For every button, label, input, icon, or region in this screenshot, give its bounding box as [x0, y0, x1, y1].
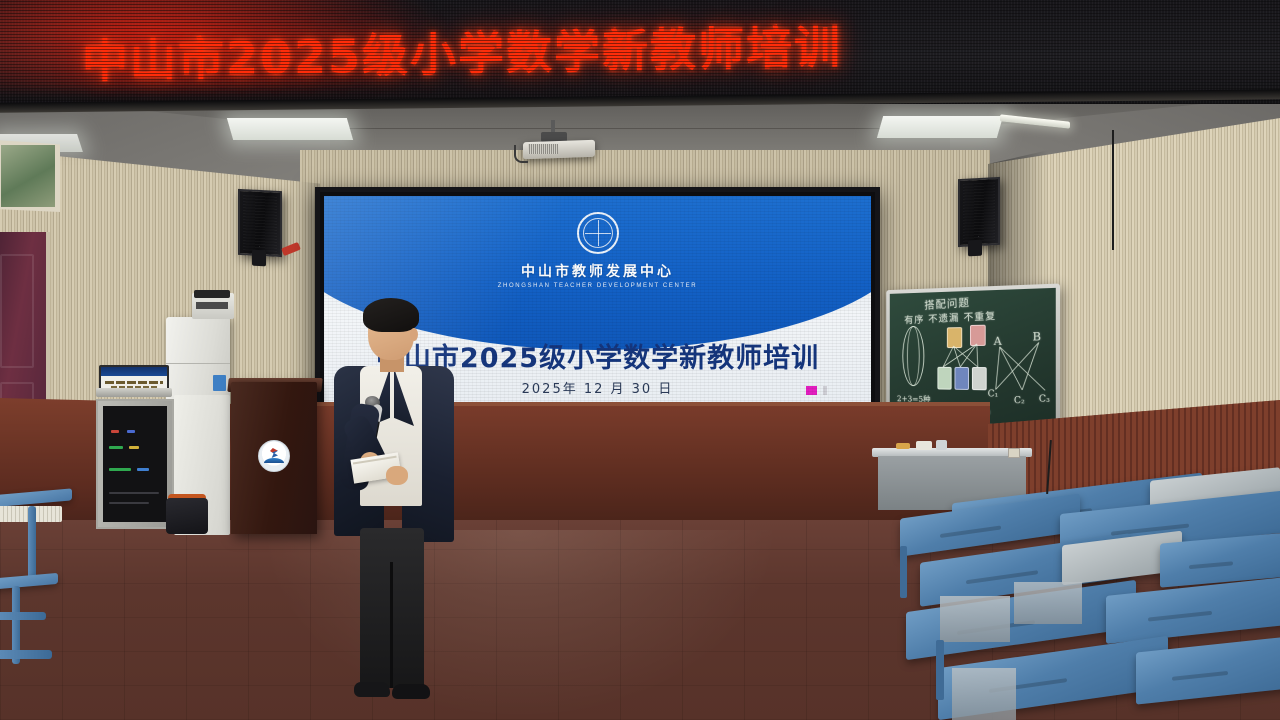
blackboard-node-c2: C₂	[1014, 396, 1025, 407]
trouser-seam	[390, 562, 393, 688]
podium	[231, 382, 317, 534]
equipment-bag	[166, 498, 208, 534]
desk-side-panel	[940, 596, 1010, 642]
left-speaker-mount	[252, 250, 266, 267]
wall-outlet[interactable]	[1008, 448, 1020, 458]
ceiling-light-panel	[227, 118, 353, 140]
grey-artifact	[823, 386, 827, 395]
ceiling-seam	[330, 128, 960, 129]
table-item-chalk	[896, 443, 910, 449]
rack-panel-line	[109, 502, 149, 504]
blackboard-node-b: B	[1033, 330, 1041, 344]
left-desk-crossbar	[0, 612, 46, 620]
left-stool-foot	[0, 650, 52, 659]
desk-leg	[900, 546, 907, 598]
shoe-left	[354, 682, 390, 697]
av-equipment-rack	[96, 399, 174, 529]
left-window	[0, 140, 60, 212]
blackboard-node-a: A	[994, 335, 1002, 348]
left-wall-speaker: .	[238, 189, 282, 257]
desk-side-panel	[1014, 582, 1082, 624]
slide-logo: 中山市教师发展中心 ZHONGSHAN TEACHER DEVELOPMENT …	[324, 212, 871, 289]
shoe-right	[392, 684, 430, 699]
printer-lid	[194, 290, 230, 298]
ceiling-light-panel	[877, 116, 1003, 138]
lecture-room-photo: 中山市2025级小学数学新教师培训 . . 中山市教师发展中心	[0, 0, 1280, 720]
laptop-screen-content	[101, 367, 167, 389]
blackboard-node-c1: C₁	[988, 389, 999, 399]
laptop-text-line	[105, 381, 163, 384]
rack-panel-line	[109, 492, 159, 494]
ac-seam	[166, 363, 230, 364]
printer-paper-slot	[196, 302, 228, 309]
rack-status-led	[109, 446, 123, 449]
wall-cable	[1112, 130, 1114, 250]
emblem-figure	[270, 448, 278, 458]
rack-status-led	[109, 468, 131, 471]
rack-status-led	[129, 446, 139, 449]
logo-english-name: ZHONGSHAN TEACHER DEVELOPMENT CENTER	[324, 283, 871, 289]
school-emblem-icon	[258, 440, 290, 472]
right-speaker-mount	[968, 240, 982, 257]
blackboard-node-c3: C₃	[1039, 394, 1050, 405]
hair	[363, 298, 419, 332]
right-wall-speaker: .	[958, 177, 1000, 247]
desk-leg	[936, 640, 944, 700]
ac-energy-label	[213, 375, 226, 391]
desk-side-panel	[952, 668, 1016, 720]
table-item-eraser	[916, 441, 932, 450]
table-item-cup	[936, 440, 947, 450]
projector-cable	[514, 145, 528, 163]
rack-status-led	[137, 468, 149, 471]
presenter	[330, 296, 460, 720]
rack-status-led	[111, 430, 119, 433]
led-banner: 中山市2025级小学数学新教师培训	[0, 0, 1280, 104]
emblem-icon	[577, 212, 619, 254]
left-desk-leg	[28, 506, 36, 580]
projector-vent	[528, 144, 558, 154]
ear	[410, 328, 418, 341]
magenta-artifact	[806, 386, 817, 395]
emblem-bar	[585, 233, 611, 234]
speaker-brand-label: .	[259, 243, 261, 249]
logo-chinese-name: 中山市教师发展中心	[324, 261, 871, 281]
speaker-brand-label: .	[978, 233, 980, 239]
rack-status-led	[127, 430, 135, 433]
hand-holding-notes	[386, 466, 408, 485]
rack-interior	[103, 406, 167, 522]
emblem-wave	[264, 458, 284, 463]
door-panel-upper	[0, 254, 34, 368]
laptop-keyboard[interactable]	[96, 388, 172, 397]
